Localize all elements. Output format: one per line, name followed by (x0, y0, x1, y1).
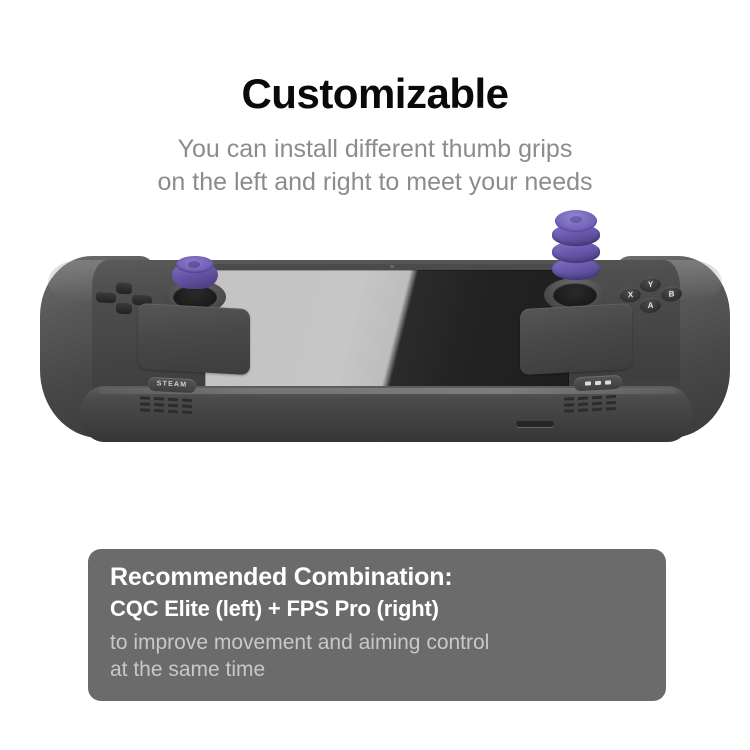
panel-heading: Recommended Combination: (110, 563, 646, 593)
dpad-down[interactable] (116, 301, 132, 314)
left-trackpad[interactable] (138, 303, 250, 375)
panel-subheading: CQC Elite (left) + FPS Pro (right) (110, 595, 646, 622)
panel-body-line-1: to improve movement and aiming control (110, 630, 646, 657)
grille-row (140, 408, 206, 414)
page-title: Customizable (0, 72, 750, 116)
page-subtitle: You can install different thumb grips on… (0, 133, 750, 198)
right-trackpad[interactable] (520, 303, 632, 375)
header: Customizable You can install different t… (0, 0, 750, 198)
dpad-left[interactable] (96, 291, 116, 303)
grille-row (564, 406, 630, 412)
right-speaker-grille (564, 394, 630, 419)
dot-icon (595, 381, 601, 385)
button-a[interactable]: A (640, 297, 661, 313)
panel-body: to improve movement and aiming control a… (110, 630, 646, 684)
fps-grip-logo-icon (570, 216, 582, 223)
right-thumb-grip-fps-pro[interactable] (552, 210, 600, 286)
dot-icon (605, 380, 611, 384)
subtitle-line-2: on the left and right to meet your needs (0, 166, 750, 199)
button-b[interactable]: B (661, 286, 682, 302)
left-speaker-grille (140, 396, 206, 421)
grille-row (140, 396, 206, 402)
right-thumbstick-ring (553, 283, 597, 307)
ambient-sensor-icon (390, 265, 394, 268)
button-x[interactable]: X (620, 287, 641, 303)
steam-button[interactable]: STEAM (148, 377, 196, 394)
panel-body-line-2: at the same time (110, 657, 646, 684)
subtitle-line-1: You can install different thumb grips (0, 133, 750, 166)
grille-row (140, 402, 206, 408)
device-illustration: STEAM X Y A B (40, 238, 730, 473)
menu-button[interactable] (574, 375, 622, 392)
cqc-grip-logo-icon (188, 261, 200, 268)
dot-icon (585, 381, 591, 385)
dpad-up[interactable] (116, 281, 132, 294)
device-screen (205, 270, 569, 396)
right-control-cluster: X Y A B (520, 238, 710, 438)
left-thumb-grip-cqc-elite[interactable] (172, 256, 218, 290)
recommendation-panel: Recommended Combination: CQC Elite (left… (88, 549, 666, 701)
left-control-cluster: STEAM (60, 238, 250, 438)
button-y[interactable]: Y (640, 276, 661, 292)
product-feature-page: Customizable You can install different t… (0, 0, 750, 750)
